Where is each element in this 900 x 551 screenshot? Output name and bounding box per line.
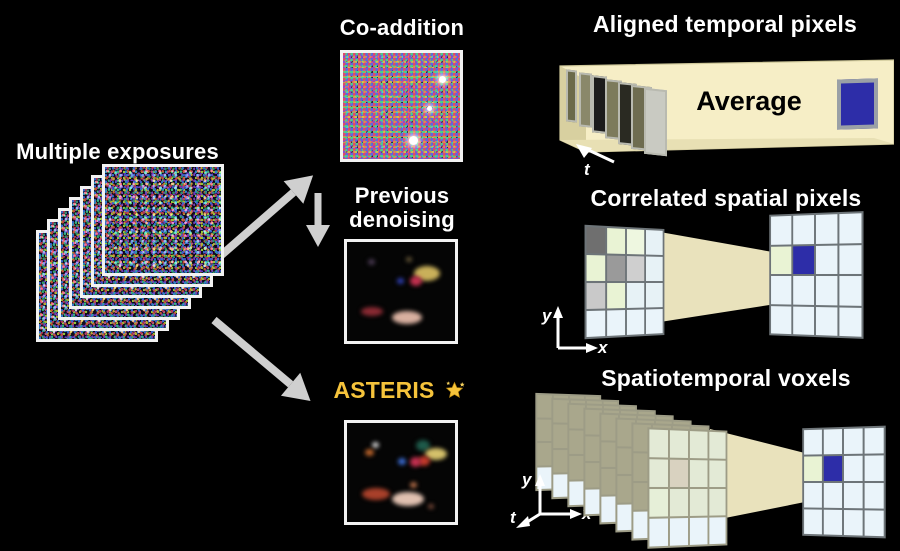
source-blob (397, 278, 404, 284)
voxel-output-cells (802, 426, 885, 539)
grid-cell (709, 517, 726, 544)
source-blob (410, 457, 421, 467)
axis-label-y: y (542, 306, 551, 326)
co-addition-title: Co-addition (312, 16, 492, 40)
grid-cell (627, 310, 644, 335)
grid-cell (839, 213, 861, 243)
source-blob (365, 449, 374, 456)
grid-cell (793, 306, 814, 335)
correlated-spatial-pixels-title: Correlated spatial pixels (556, 186, 896, 211)
spatial-output-grid (769, 211, 863, 339)
grid-cell (839, 276, 861, 305)
grid-cell (839, 245, 861, 274)
grid-cell (771, 246, 791, 274)
grid-cell (844, 456, 863, 481)
multiple-exposures-title: Multiple exposures (10, 140, 225, 164)
source-blob (361, 307, 383, 316)
grid-cell (709, 460, 726, 487)
aligned-temporal-pixels-title: Aligned temporal pixels (560, 12, 890, 37)
axis-label-t: t (584, 160, 590, 180)
grid-cell (587, 255, 606, 281)
grid-cell (771, 306, 791, 334)
grid-cell (587, 227, 606, 253)
source-blob (392, 311, 422, 324)
grid-cell (627, 283, 644, 308)
grid-cell (670, 430, 688, 458)
grid-cell (649, 459, 667, 487)
grid-cell (793, 215, 814, 244)
spatial-output-cells (769, 211, 863, 339)
temporal-output-pixel (837, 78, 878, 129)
grid-cell (816, 276, 837, 305)
grid-cell (649, 489, 667, 517)
grid-cell (690, 518, 707, 545)
temporal-slice (579, 73, 592, 129)
grid-cell (804, 483, 822, 508)
grid-cell (649, 429, 667, 457)
grid-cell (804, 456, 822, 481)
grid-cell (804, 509, 822, 534)
source-blob (406, 257, 412, 262)
grid-cell (553, 450, 568, 473)
exposure-frame (102, 164, 224, 276)
spatial-axes: y x (540, 298, 620, 358)
grid-cell (537, 419, 552, 441)
figure-canvas: Multiple exposures Co-addition Previous … (0, 0, 900, 551)
asteris-label: ASTERIS (333, 378, 434, 403)
spatiotemporal-voxels-title: Spatiotemporal voxels (566, 366, 886, 391)
grid-cell (824, 510, 842, 535)
grid-cell (816, 245, 837, 274)
grid-cell (670, 489, 688, 516)
grid-cell (824, 429, 842, 454)
grid-cell (646, 309, 663, 334)
asteris-title: ASTERIS (300, 378, 500, 403)
temporal-slice (644, 88, 667, 157)
grid-cell (627, 229, 644, 254)
source-blob (410, 482, 417, 488)
grid-cell (771, 276, 791, 304)
source-blob (398, 458, 406, 465)
grid-cell (607, 256, 625, 281)
noise-highlights (105, 167, 221, 273)
grid-cell (865, 483, 884, 509)
grid-cell (553, 425, 568, 448)
grid-cell (793, 276, 814, 304)
grid-cell (690, 489, 707, 516)
noise-texture (343, 53, 460, 159)
grid-cell (865, 455, 884, 481)
point-source (409, 136, 418, 145)
grid-cell (537, 395, 552, 417)
grid-cell (816, 307, 837, 336)
grid-cell (709, 489, 726, 516)
source-blob (368, 259, 375, 265)
source-blob (392, 492, 424, 506)
source-blob (372, 442, 379, 448)
grid-cell (670, 518, 688, 546)
grid-cell (844, 510, 863, 536)
co-addition-image (340, 50, 463, 162)
grid-cell (844, 483, 863, 508)
grid-cell (607, 228, 625, 254)
axis-label-x: x (598, 338, 607, 358)
grid-cell (670, 460, 688, 487)
grid-cell (865, 510, 884, 536)
temporal-axis: t (570, 142, 630, 182)
grid-cell (844, 428, 863, 454)
grid-cell (793, 246, 814, 274)
grid-cell (646, 257, 663, 282)
previous-denoising-image (344, 239, 458, 344)
source-blob (428, 504, 434, 509)
grid-cell (709, 432, 726, 459)
grid-cell (804, 430, 822, 455)
axis-label-y: y (522, 470, 531, 490)
grid-cell (649, 519, 667, 547)
previous-denoising-title: Previous denoising (312, 184, 492, 232)
grid-cell (771, 216, 791, 244)
grid-cell (690, 431, 707, 458)
grid-cell (553, 474, 568, 497)
voxel-output-grid (802, 426, 885, 539)
grid-cell (553, 400, 568, 423)
asteris-image (344, 420, 458, 525)
grid-cell (865, 428, 884, 454)
grid-cell (824, 456, 842, 481)
grid-cell (627, 256, 644, 281)
voxel-slice (647, 427, 727, 549)
temporal-slice (566, 69, 577, 122)
sparkle-star-icon (442, 378, 467, 403)
grid-cell (824, 483, 842, 508)
source-blob (362, 488, 390, 500)
grid-cell (816, 214, 837, 243)
grid-cell (839, 307, 861, 337)
grid-cell (690, 460, 707, 487)
grid-cell (646, 230, 663, 255)
grid-cell (646, 283, 663, 308)
axis-label-t: t (510, 508, 516, 528)
source-blob (410, 276, 422, 286)
